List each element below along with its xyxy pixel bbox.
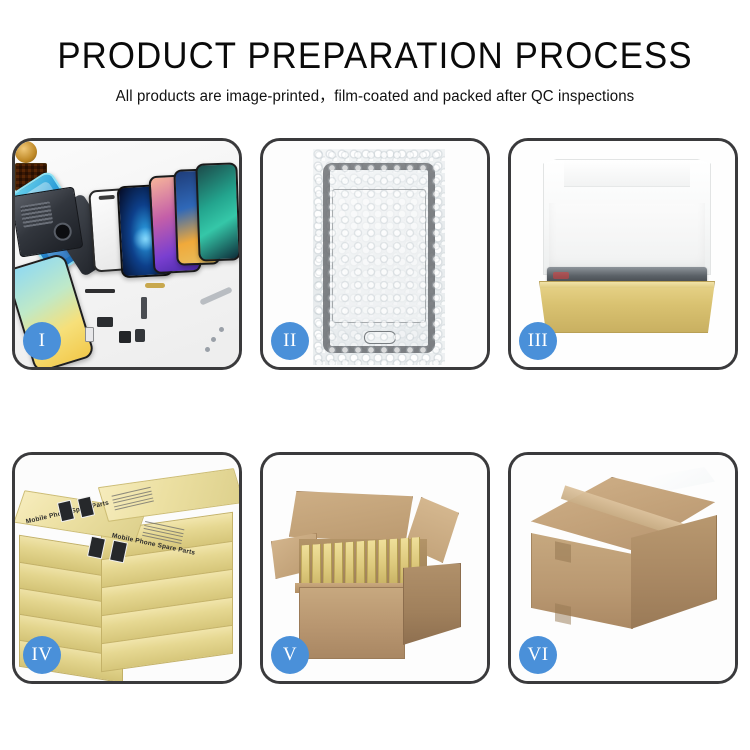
sim-tray-part	[85, 327, 94, 342]
step-badge-3: III	[519, 322, 557, 360]
product-preparation-infographic: PRODUCT PREPARATION PROCESS All products…	[0, 0, 750, 750]
step-badge-2: II	[271, 322, 309, 360]
kraft-box-front	[539, 281, 715, 333]
carton-front-face	[299, 587, 405, 659]
gold-connector-part	[145, 283, 165, 288]
step-panel-4: Mobile Phone Spare Parts Mobile Phone Sp…	[12, 452, 242, 684]
phone-teal-display	[195, 162, 239, 261]
step-panel-5: V	[260, 452, 490, 684]
step-panel-1: I	[12, 138, 242, 370]
carton-seam-upper	[555, 541, 571, 562]
step-panel-3: III	[508, 138, 738, 370]
step-panel-6: VI	[508, 452, 738, 684]
screw-part	[211, 337, 216, 342]
flex-cable-part	[85, 289, 115, 293]
step-badge-5: V	[271, 636, 309, 674]
sealed-carton-front	[531, 533, 633, 629]
carton-side-face	[403, 563, 461, 645]
vibrator-part	[135, 329, 145, 342]
step-badge-4: IV	[23, 636, 61, 674]
step-badge-1: I	[23, 322, 61, 360]
page-title: PRODUCT PREPARATION PROCESS	[23, 34, 728, 78]
step-panel-2: II	[260, 138, 490, 370]
header: PRODUCT PREPARATION PROCESS All products…	[0, 34, 750, 107]
small-ic-part	[97, 317, 113, 327]
wrapped-phone-screen	[323, 163, 435, 353]
screw-part	[205, 347, 210, 352]
speaker-coil-part	[15, 141, 37, 163]
tweezers-tool	[199, 286, 233, 305]
screw-part	[219, 327, 224, 332]
button-flex-part	[141, 297, 147, 319]
process-steps-grid: I II III	[12, 138, 738, 684]
carton-seam-lower	[555, 603, 571, 624]
page-subtitle: All products are image-printed，film-coat…	[11, 87, 739, 107]
camera-module-part	[119, 331, 131, 343]
white-foam-padding	[549, 203, 705, 271]
step-badge-6: VI	[519, 636, 557, 674]
logic-board-part	[15, 186, 83, 257]
